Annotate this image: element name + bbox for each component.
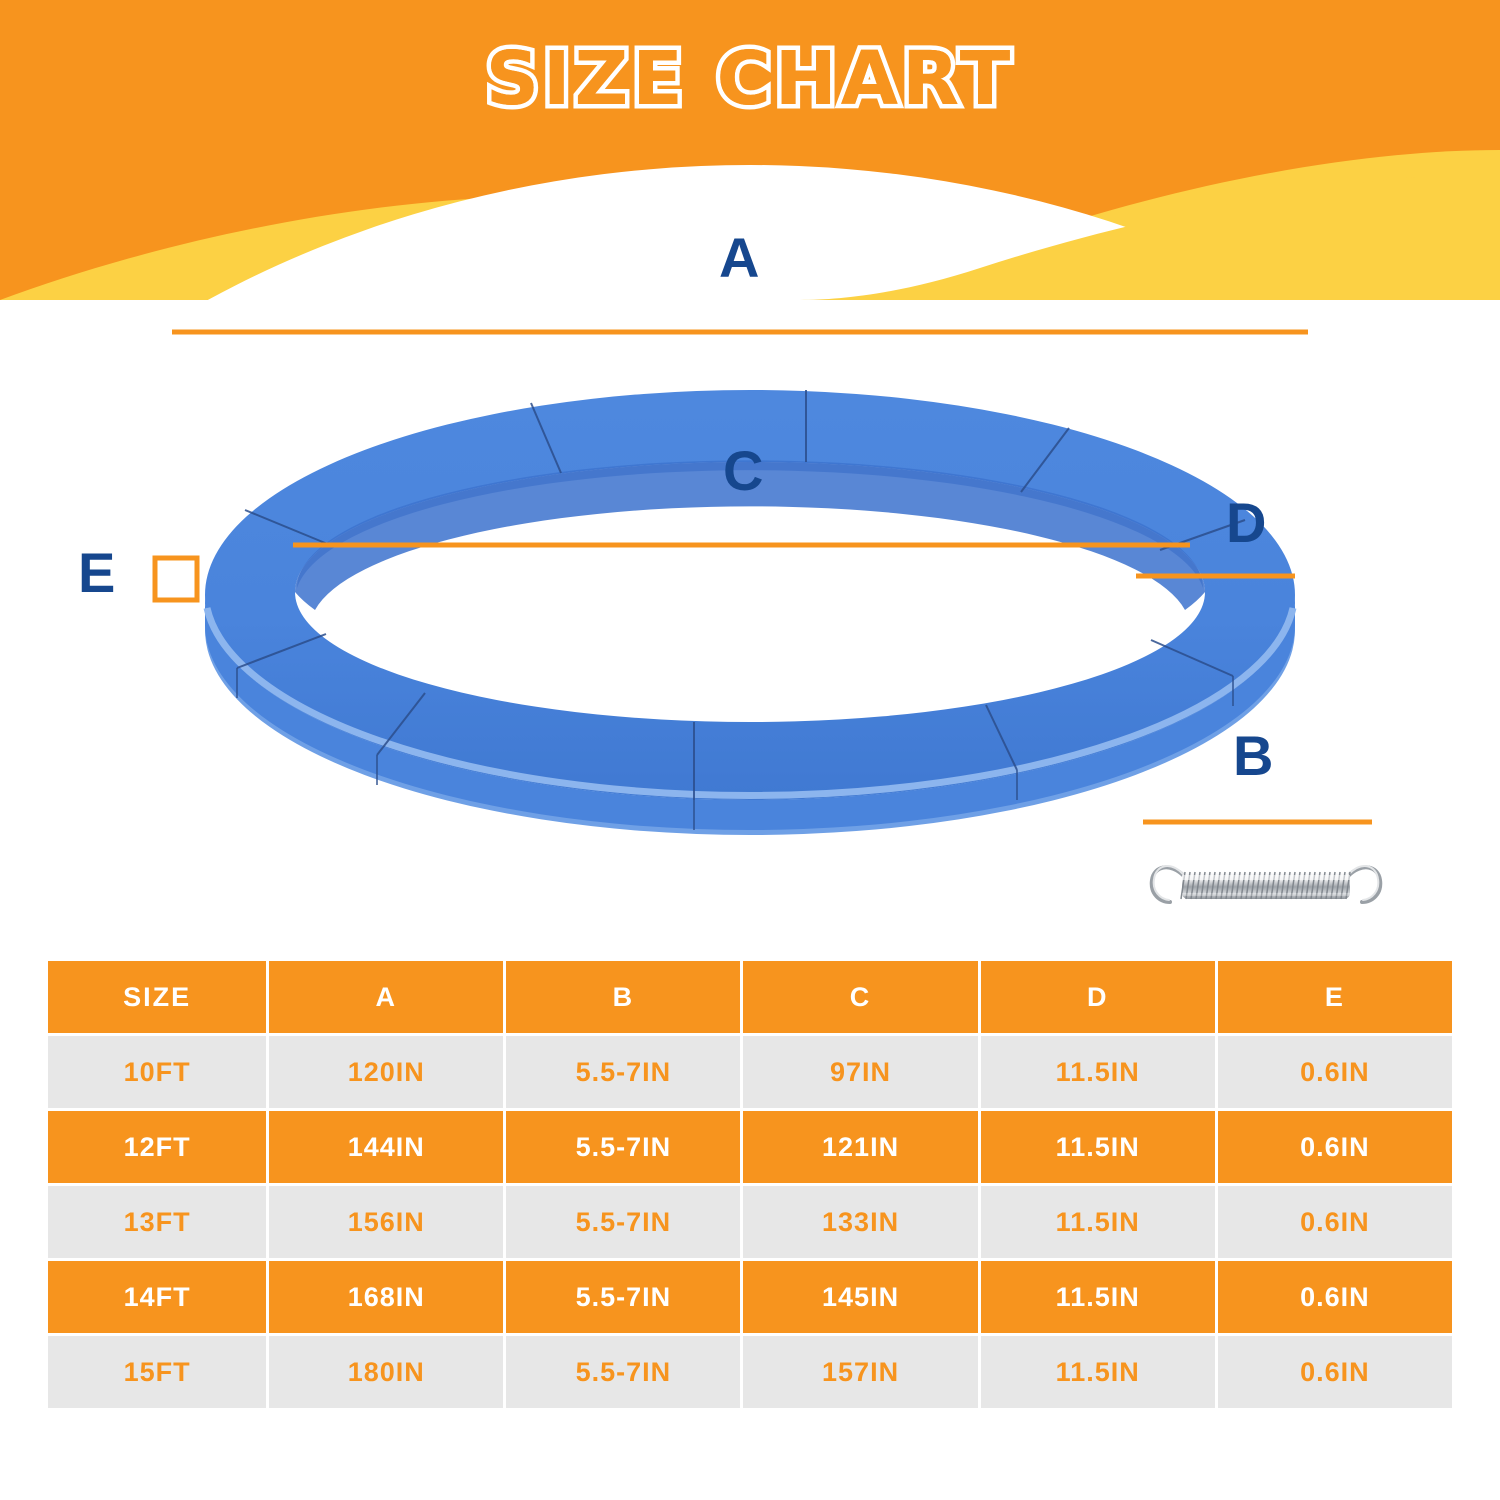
cell-d: 11.5IN [981,1036,1215,1108]
size-table: SIZE A B C D E 10FT 120IN 5.5-7IN 97IN 1… [45,958,1455,1411]
dimension-label-a: A [719,230,759,286]
table-header-b: B [506,961,740,1033]
table-header-a: A [269,961,503,1033]
dimension-marker-e [155,558,197,600]
cell-a: 144IN [269,1111,503,1183]
cell-b: 5.5-7IN [506,1336,740,1408]
size-chart-page: SIZE CHART SIZE CHART [0,0,1500,1500]
cell-b: 5.5-7IN [506,1186,740,1258]
cell-a: 180IN [269,1336,503,1408]
table-header-e: E [1218,961,1452,1033]
table-header-size: SIZE [48,961,266,1033]
cell-size: 13FT [48,1186,266,1258]
cell-a: 120IN [269,1036,503,1108]
cell-e: 0.6IN [1218,1186,1452,1258]
cell-b: 5.5-7IN [506,1036,740,1108]
table-row: 15FT 180IN 5.5-7IN 157IN 11.5IN 0.6IN [48,1336,1452,1408]
cell-size: 12FT [48,1111,266,1183]
table-header-c: C [743,961,977,1033]
spring-icon [1152,866,1381,902]
diagram-graphics [0,200,1500,940]
table-header-row: SIZE A B C D E [48,961,1452,1033]
product-diagram: A C D E B [0,200,1500,940]
cell-size: 10FT [48,1036,266,1108]
table-header-d: D [981,961,1215,1033]
cell-b: 5.5-7IN [506,1261,740,1333]
dimension-label-b: B [1233,728,1273,784]
dimension-label-d: D [1226,495,1266,551]
cell-c: 121IN [743,1111,977,1183]
cell-c: 97IN [743,1036,977,1108]
cell-d: 11.5IN [981,1336,1215,1408]
table-row: 13FT 156IN 5.5-7IN 133IN 11.5IN 0.6IN [48,1186,1452,1258]
page-title: SIZE CHART [0,36,1500,122]
cell-d: 11.5IN [981,1111,1215,1183]
cell-d: 11.5IN [981,1186,1215,1258]
cell-e: 0.6IN [1218,1111,1452,1183]
cell-e: 0.6IN [1218,1261,1452,1333]
cell-b: 5.5-7IN [506,1111,740,1183]
cell-c: 157IN [743,1336,977,1408]
cell-e: 0.6IN [1218,1336,1452,1408]
table-row: 10FT 120IN 5.5-7IN 97IN 11.5IN 0.6IN [48,1036,1452,1108]
cell-a: 156IN [269,1186,503,1258]
cell-c: 133IN [743,1186,977,1258]
cell-a: 168IN [269,1261,503,1333]
cell-size: 15FT [48,1336,266,1408]
cell-d: 11.5IN [981,1261,1215,1333]
cell-c: 145IN [743,1261,977,1333]
dimension-label-c: C [723,443,763,499]
cell-e: 0.6IN [1218,1036,1452,1108]
dimension-label-e: E [78,545,115,601]
table-row: 12FT 144IN 5.5-7IN 121IN 11.5IN 0.6IN [48,1111,1452,1183]
cell-size: 14FT [48,1261,266,1333]
table-row: 14FT 168IN 5.5-7IN 145IN 11.5IN 0.6IN [48,1261,1452,1333]
